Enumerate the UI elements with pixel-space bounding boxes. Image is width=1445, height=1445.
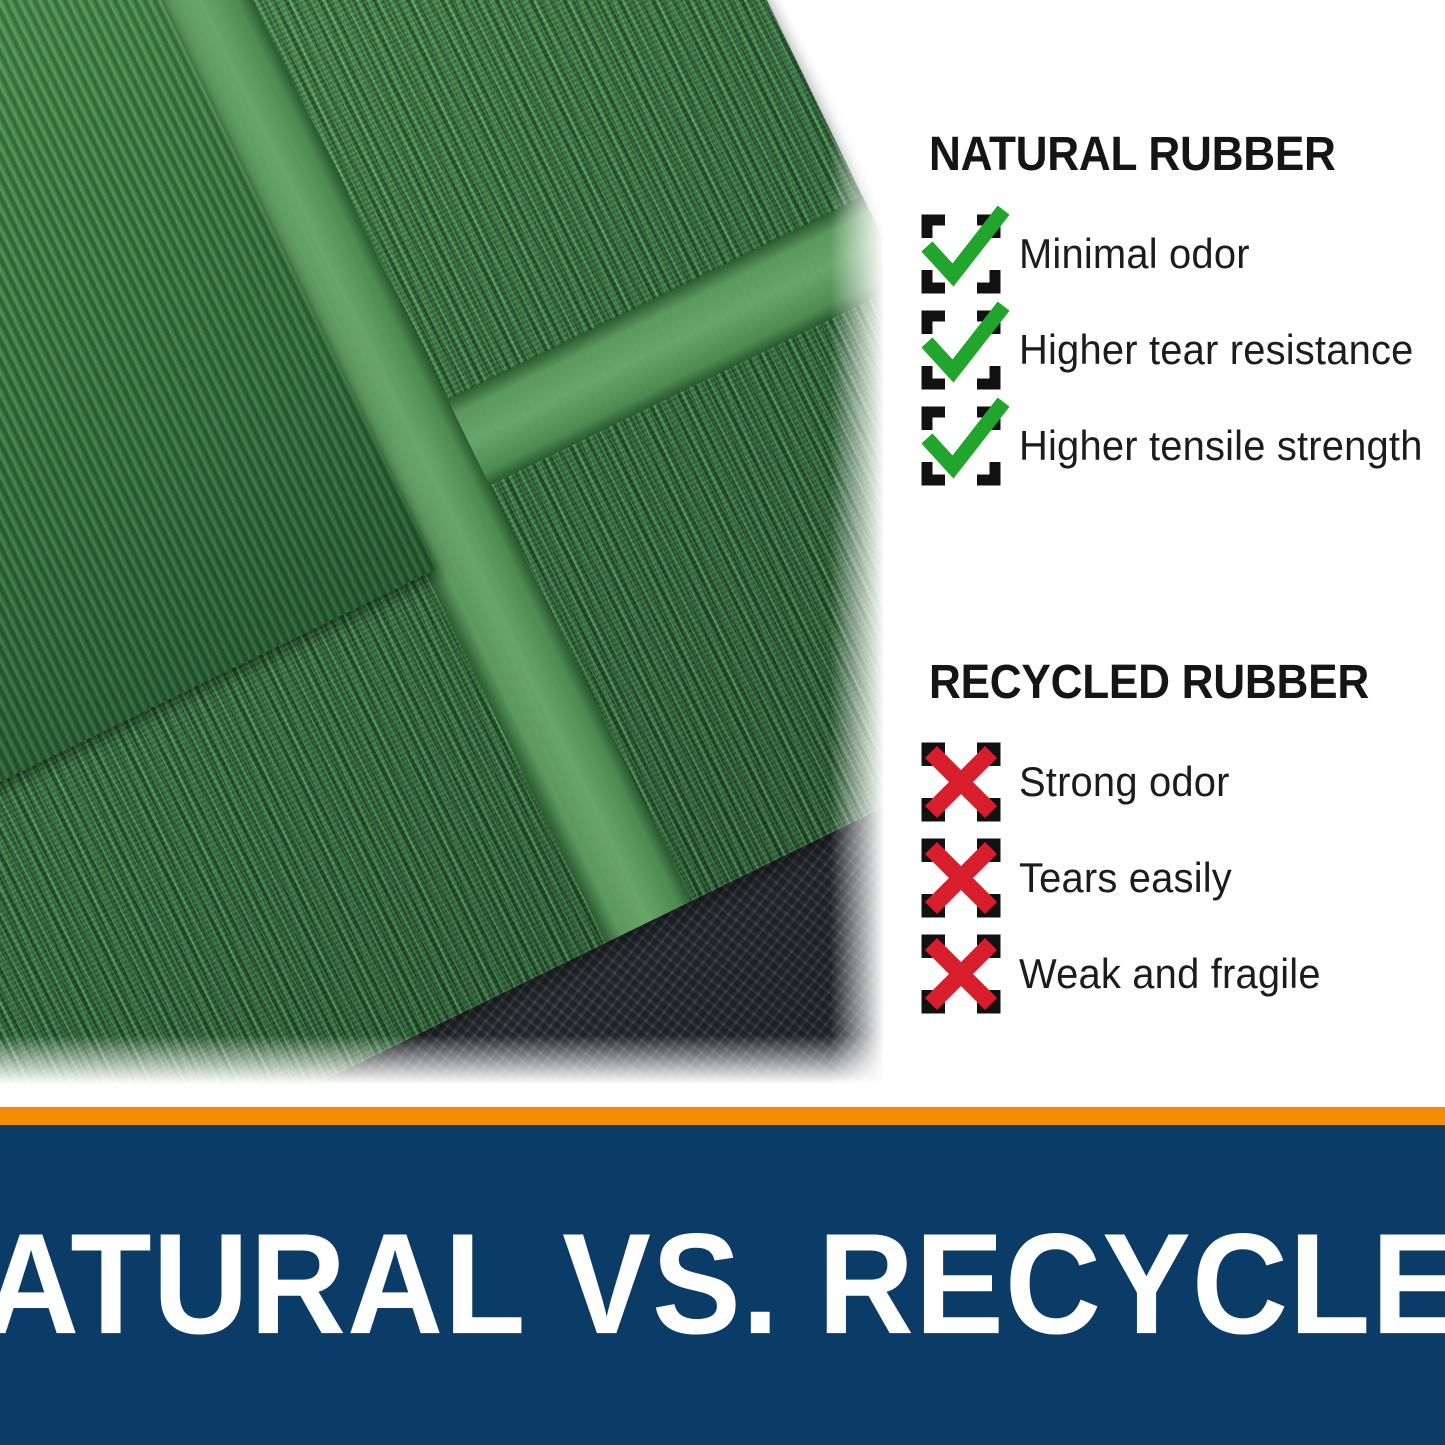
cross-square-icon [925, 938, 997, 1010]
feature-label: Strong odor [1019, 761, 1230, 803]
check-square-icon [925, 410, 997, 482]
banner-title: NATURAL VS. RECYCLED [0, 1213, 1445, 1356]
accent-stripe [0, 1107, 1445, 1125]
feature-label: Weak and fragile [1019, 953, 1321, 995]
natural-rubber-list: Minimal odor Higher tear resistance [925, 206, 1445, 494]
feature-label: Minimal odor [1019, 233, 1250, 275]
photo-fade-right [830, 0, 900, 1095]
feature-label: Higher tear resistance [1019, 329, 1414, 371]
product-photo-stage [0, 0, 900, 1095]
bottom-banner: NATURAL VS. RECYCLED [0, 1125, 1445, 1445]
list-item: Minimal odor [925, 206, 1445, 302]
check-square-icon [925, 314, 997, 386]
feature-label: Higher tensile strength [1019, 425, 1423, 467]
cross-square-icon [925, 842, 997, 914]
feature-group-recycled-rubber: RECYCLED RUBBER Strong odor [925, 658, 1445, 1022]
recycled-rubber-list: Strong odor Tears easily [925, 734, 1445, 1022]
infographic-root: NATURAL RUBBER Minimal odor [0, 0, 1445, 1445]
product-photo [0, 0, 900, 1095]
cross-square-icon [925, 746, 997, 818]
feature-label: Tears easily [1019, 857, 1232, 899]
check-square-icon [925, 218, 997, 290]
list-item: Higher tensile strength [925, 398, 1445, 494]
list-item: Strong odor [925, 734, 1445, 830]
feature-group-natural-rubber: NATURAL RUBBER Minimal odor [925, 130, 1445, 494]
comparison-column: NATURAL RUBBER Minimal odor [925, 0, 1445, 1095]
list-item: Higher tear resistance [925, 302, 1445, 398]
natural-rubber-heading: NATURAL RUBBER [929, 130, 1404, 180]
list-item: Weak and fragile [925, 926, 1445, 1022]
recycled-rubber-heading: RECYCLED RUBBER [929, 658, 1404, 708]
photo-fade-bottom [0, 1035, 900, 1095]
list-item: Tears easily [925, 830, 1445, 926]
